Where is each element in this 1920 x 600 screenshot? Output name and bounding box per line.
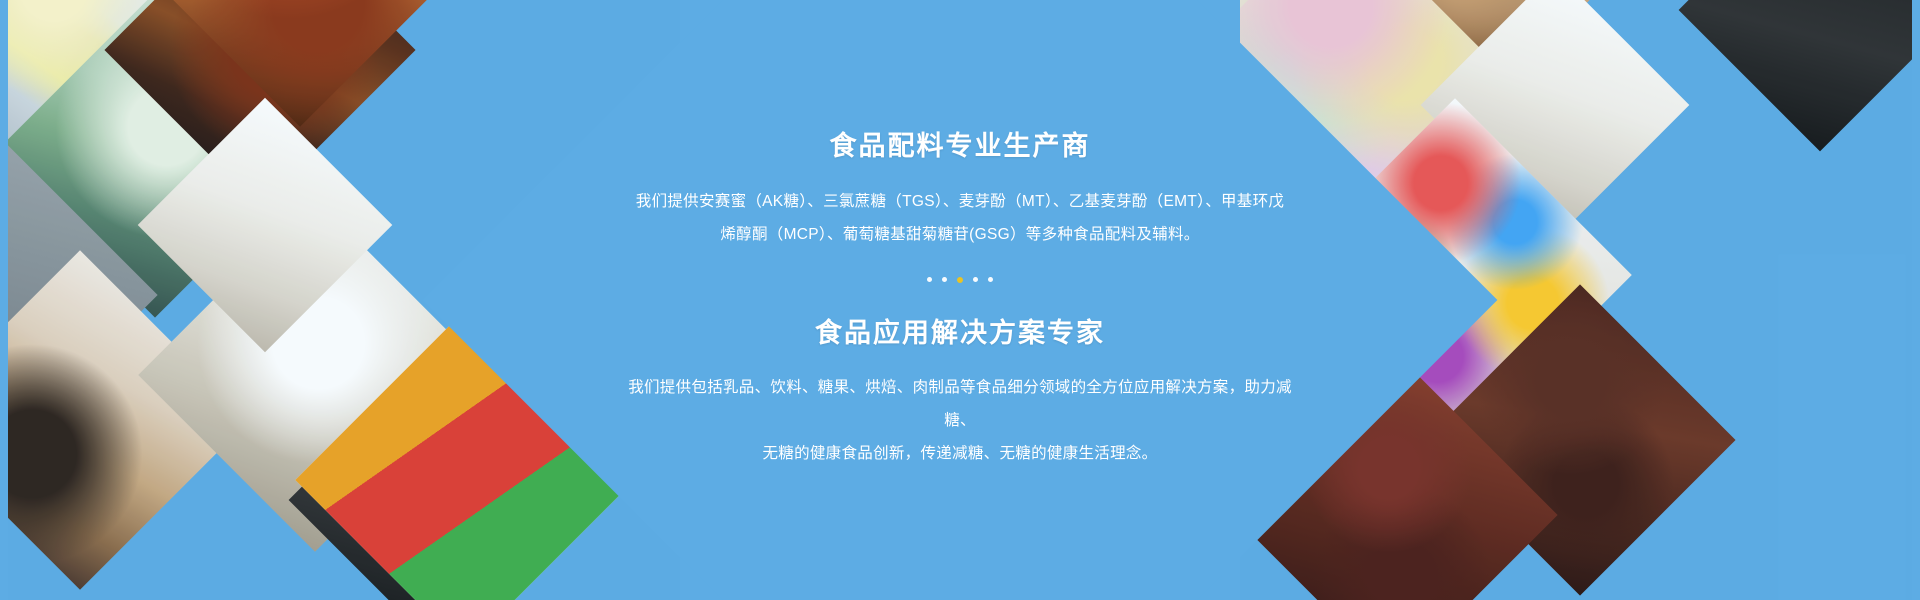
promo-banner: 食品配料专业生产商 我们提供安赛蜜（AK糖）、三氯蔗糖（TGS）、麦芽酚（MT）… <box>0 0 1920 600</box>
section-two: 食品应用解决方案专家 我们提供包括乳品、饮料、糖果、烘焙、肉制品等食品细分领域的… <box>620 317 1300 470</box>
banner-content: 食品配料专业生产商 我们提供安赛蜜（AK糖）、三氯蔗糖（TGS）、麦芽酚（MT）… <box>0 0 1920 600</box>
separator-dot <box>927 277 932 282</box>
separator-dot <box>988 277 993 282</box>
separator-dot-accent <box>957 277 963 283</box>
section-one-paragraph: 我们提供安赛蜜（AK糖）、三氯蔗糖（TGS）、麦芽酚（MT）、乙基麦芽酚（EMT… <box>636 185 1284 251</box>
section-two-paragraph-line-2: 无糖的健康食品创新，传递减糖、无糖的健康生活理念。 <box>620 437 1300 470</box>
section-one-heading: 食品配料专业生产商 <box>636 130 1284 162</box>
section-one-paragraph-line-1: 我们提供安赛蜜（AK糖）、三氯蔗糖（TGS）、麦芽酚（MT）、乙基麦芽酚（EMT… <box>636 185 1284 218</box>
separator-dot <box>973 277 978 282</box>
section-separator-dots <box>927 277 993 283</box>
section-one-paragraph-line-2: 烯醇酮（MCP）、葡萄糖基甜菊糖苷(GSG）等多种食品配料及辅料。 <box>636 218 1284 251</box>
section-two-paragraph: 我们提供包括乳品、饮料、糖果、烘焙、肉制品等食品细分领域的全方位应用解决方案，助… <box>620 371 1300 470</box>
section-two-paragraph-line-1: 我们提供包括乳品、饮料、糖果、烘焙、肉制品等食品细分领域的全方位应用解决方案，助… <box>620 371 1300 437</box>
section-one: 食品配料专业生产商 我们提供安赛蜜（AK糖）、三氯蔗糖（TGS）、麦芽酚（MT）… <box>636 130 1284 250</box>
section-two-heading: 食品应用解决方案专家 <box>620 317 1300 349</box>
separator-dot <box>942 277 947 282</box>
